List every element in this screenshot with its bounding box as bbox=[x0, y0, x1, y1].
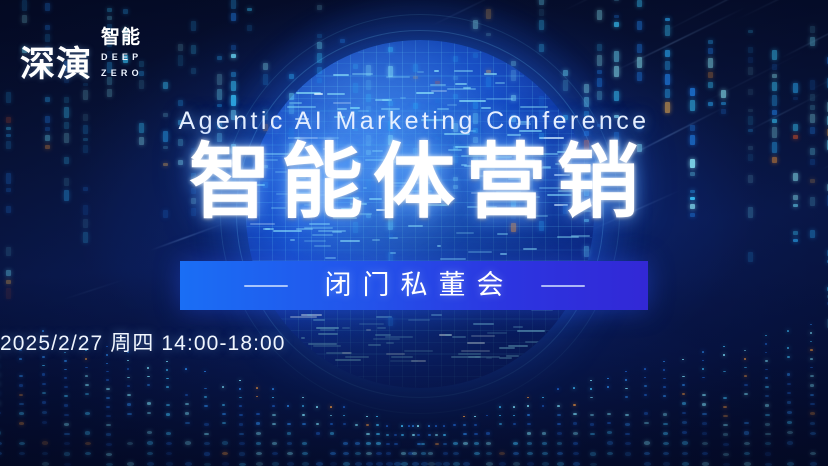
logo-wordmark-cn: 深演 bbox=[20, 48, 92, 83]
logo-sub-cn: 智能 bbox=[101, 28, 141, 48]
logo-secondary: 智能 DEEP ZERO bbox=[101, 28, 143, 83]
ribbon-label: 闭门私董会 bbox=[314, 272, 515, 299]
ribbon-dash-right bbox=[541, 285, 585, 287]
subtitle-ribbon: 闭门私董会 bbox=[180, 261, 648, 310]
conference-eyebrow: Agentic AI Marketing Conference bbox=[0, 109, 828, 134]
page-title: 智能体营销 bbox=[0, 140, 828, 226]
logo-mark: 深演 bbox=[20, 48, 92, 83]
conference-poster: 深演 智能 DEEP ZERO Agentic AI Marketing Con… bbox=[0, 0, 828, 466]
event-datetime: 2025/2/27 周四 14:00-18:00 bbox=[0, 333, 828, 354]
brand-logo[interactable]: 深演 智能 DEEP ZERO bbox=[20, 28, 143, 83]
ribbon-dash-left bbox=[244, 285, 288, 287]
logo-sub-en-zero: ZERO bbox=[101, 67, 143, 81]
logo-sub-en-deep: DEEP bbox=[101, 51, 142, 65]
